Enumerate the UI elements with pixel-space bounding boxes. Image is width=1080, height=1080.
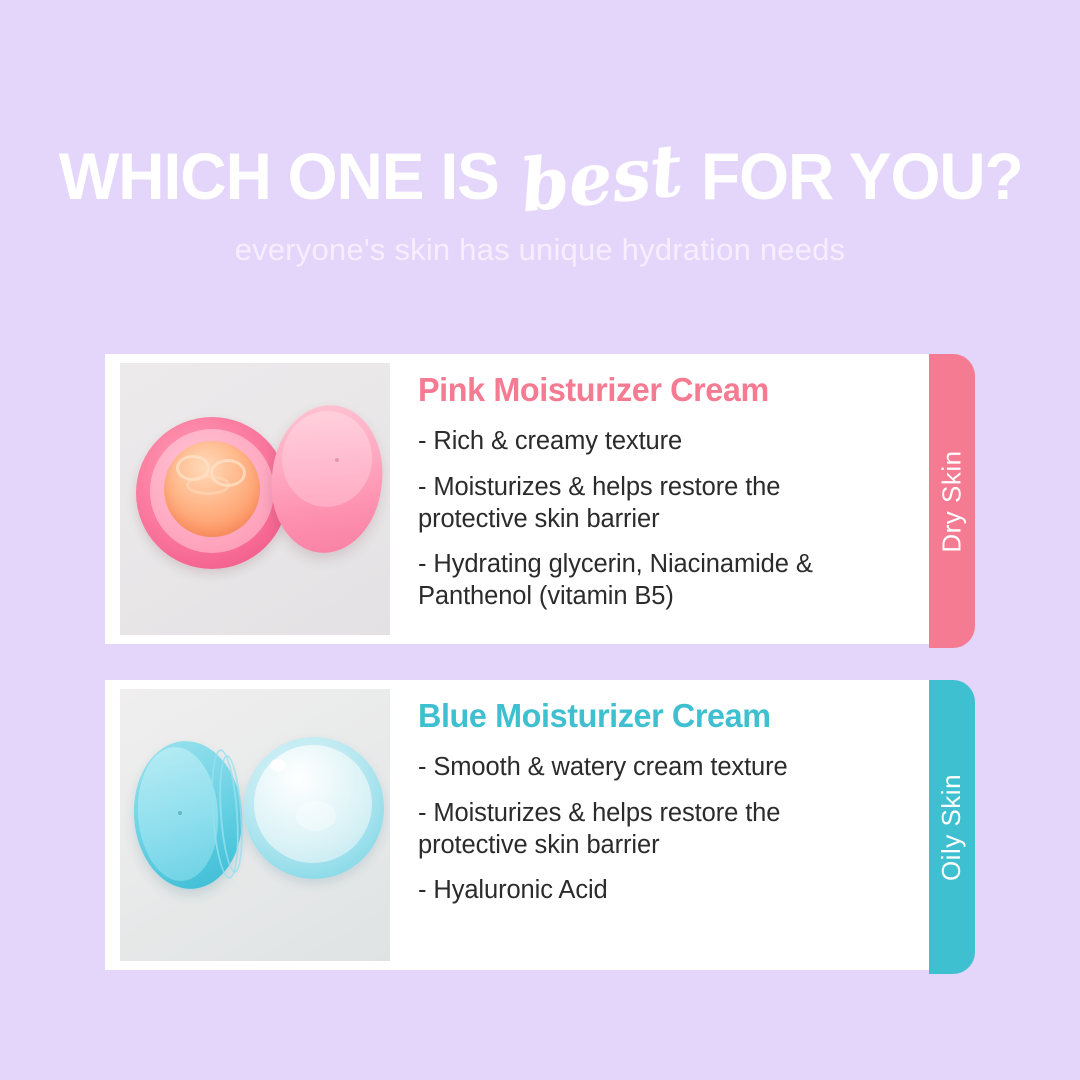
product-bullet: - Moisturizes & helps restore the protec… (418, 798, 888, 861)
skin-type-tab-label: Oily Skin (937, 773, 968, 880)
product-bullet: - Hydrating glycerin, Niacinamide & Pant… (418, 549, 888, 612)
product-bullet: - Hyaluronic Acid (418, 875, 888, 907)
skin-type-tab-dry[interactable]: Dry Skin (929, 354, 975, 648)
product-title-blue: Blue Moisturizer Cream (418, 698, 898, 734)
card-body-blue: Blue Moisturizer Cream - Smooth & watery… (390, 680, 930, 970)
page-subtitle: everyone's skin has unique hydration nee… (0, 232, 1080, 268)
card-body-pink: Pink Moisturizer Cream - Rich & creamy t… (390, 354, 930, 644)
page-title: WHICH ONE IS best FOR YOU? (0, 138, 1080, 210)
title-script-word: best (517, 134, 685, 222)
product-card-pink[interactable]: Pink Moisturizer Cream - Rich & creamy t… (105, 354, 930, 644)
title-part-1: WHICH ONE IS (59, 143, 499, 209)
product-image-blue (120, 689, 390, 961)
product-bullet: - Rich & creamy texture (418, 426, 888, 458)
product-card-blue[interactable]: Blue Moisturizer Cream - Smooth & watery… (105, 680, 930, 970)
product-title-pink: Pink Moisturizer Cream (418, 372, 898, 408)
product-bullet: - Smooth & watery cream texture (418, 752, 888, 784)
product-image-pink (120, 363, 390, 635)
skin-type-tab-label: Dry Skin (937, 450, 968, 552)
title-part-2: FOR YOU? (701, 143, 1023, 209)
product-bullet: - Moisturizes & helps restore the protec… (418, 472, 888, 535)
poster-canvas: WHICH ONE IS best FOR YOU? everyone's sk… (0, 0, 1080, 1080)
skin-type-tab-oily[interactable]: Oily Skin (929, 680, 975, 974)
